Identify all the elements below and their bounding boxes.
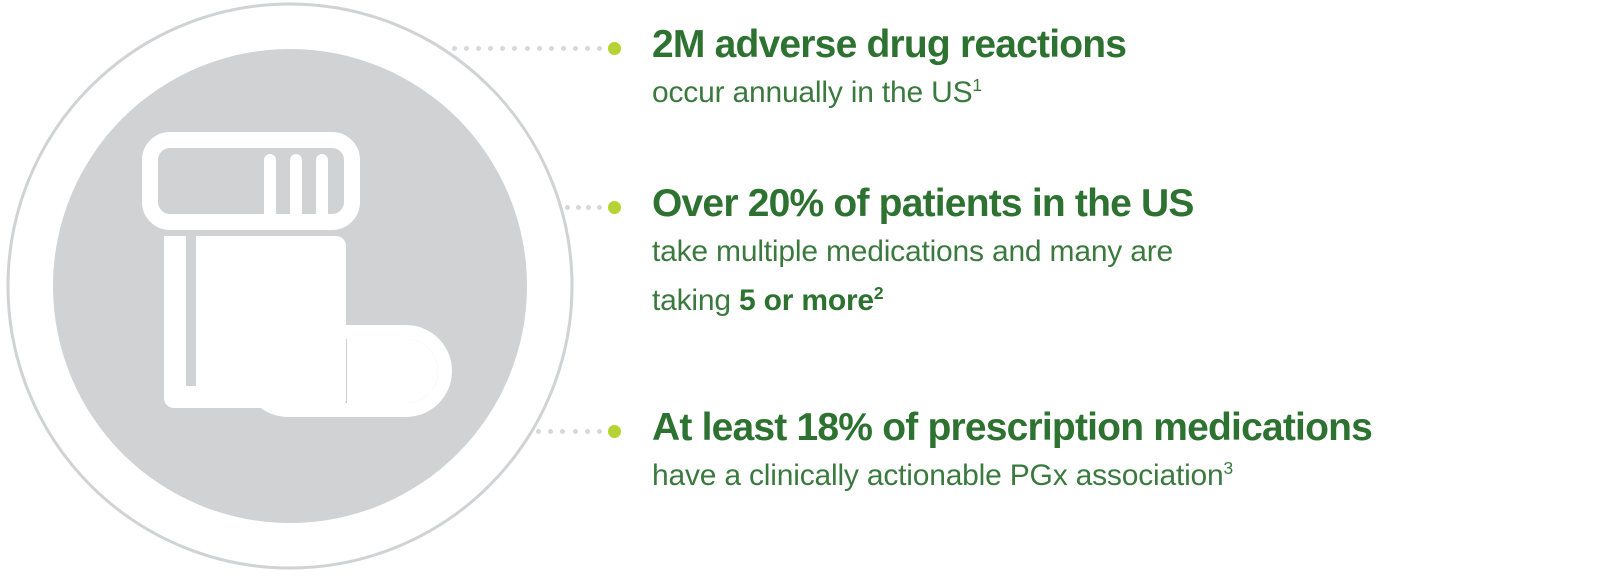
stat-subtext: occur annually in the US1 bbox=[652, 68, 1600, 117]
stat-subtext: have a clinically actionable PGx associa… bbox=[652, 451, 1600, 500]
pharmacogenomics-stats-infographic: 2M adverse drug reactions occur annually… bbox=[0, 0, 1600, 580]
stat-text-block: 2M adverse drug reactions occur annually… bbox=[652, 22, 1600, 117]
stat-subtext-line: take multiple medications and many are bbox=[652, 227, 1600, 276]
plain-text: occur annually in the US bbox=[652, 76, 972, 109]
stat-bullet-icon bbox=[608, 425, 621, 438]
emphasis-text: 5 or more bbox=[739, 284, 874, 317]
stat-subtext-line: taking 5 or more2 bbox=[652, 276, 1600, 325]
stat-heading: Over 20% of patients in the US bbox=[652, 181, 1600, 227]
footnote-marker: 3 bbox=[1224, 458, 1233, 478]
stat-subtext: take multiple medications and many areta… bbox=[652, 227, 1600, 325]
footnote-marker: 2 bbox=[874, 283, 883, 303]
stat-heading: 2M adverse drug reactions bbox=[652, 22, 1600, 68]
plain-text: have a clinically actionable PGx associa… bbox=[652, 459, 1224, 492]
footnote-marker: 1 bbox=[972, 75, 981, 95]
plain-text: taking bbox=[652, 284, 739, 317]
stat-bullet-icon bbox=[608, 201, 621, 214]
stat-list: 2M adverse drug reactions occur annually… bbox=[0, 0, 1600, 580]
stat-heading: At least 18% of prescription medications bbox=[652, 405, 1600, 451]
stat-text-block: At least 18% of prescription medications… bbox=[652, 405, 1600, 500]
stat-bullet-icon bbox=[608, 42, 621, 55]
stat-subtext-line: have a clinically actionable PGx associa… bbox=[652, 451, 1600, 500]
stat-subtext-line: occur annually in the US1 bbox=[652, 68, 1600, 117]
plain-text: take multiple medications and many are bbox=[652, 235, 1173, 268]
stat-text-block: Over 20% of patients in the US take mult… bbox=[652, 181, 1600, 325]
